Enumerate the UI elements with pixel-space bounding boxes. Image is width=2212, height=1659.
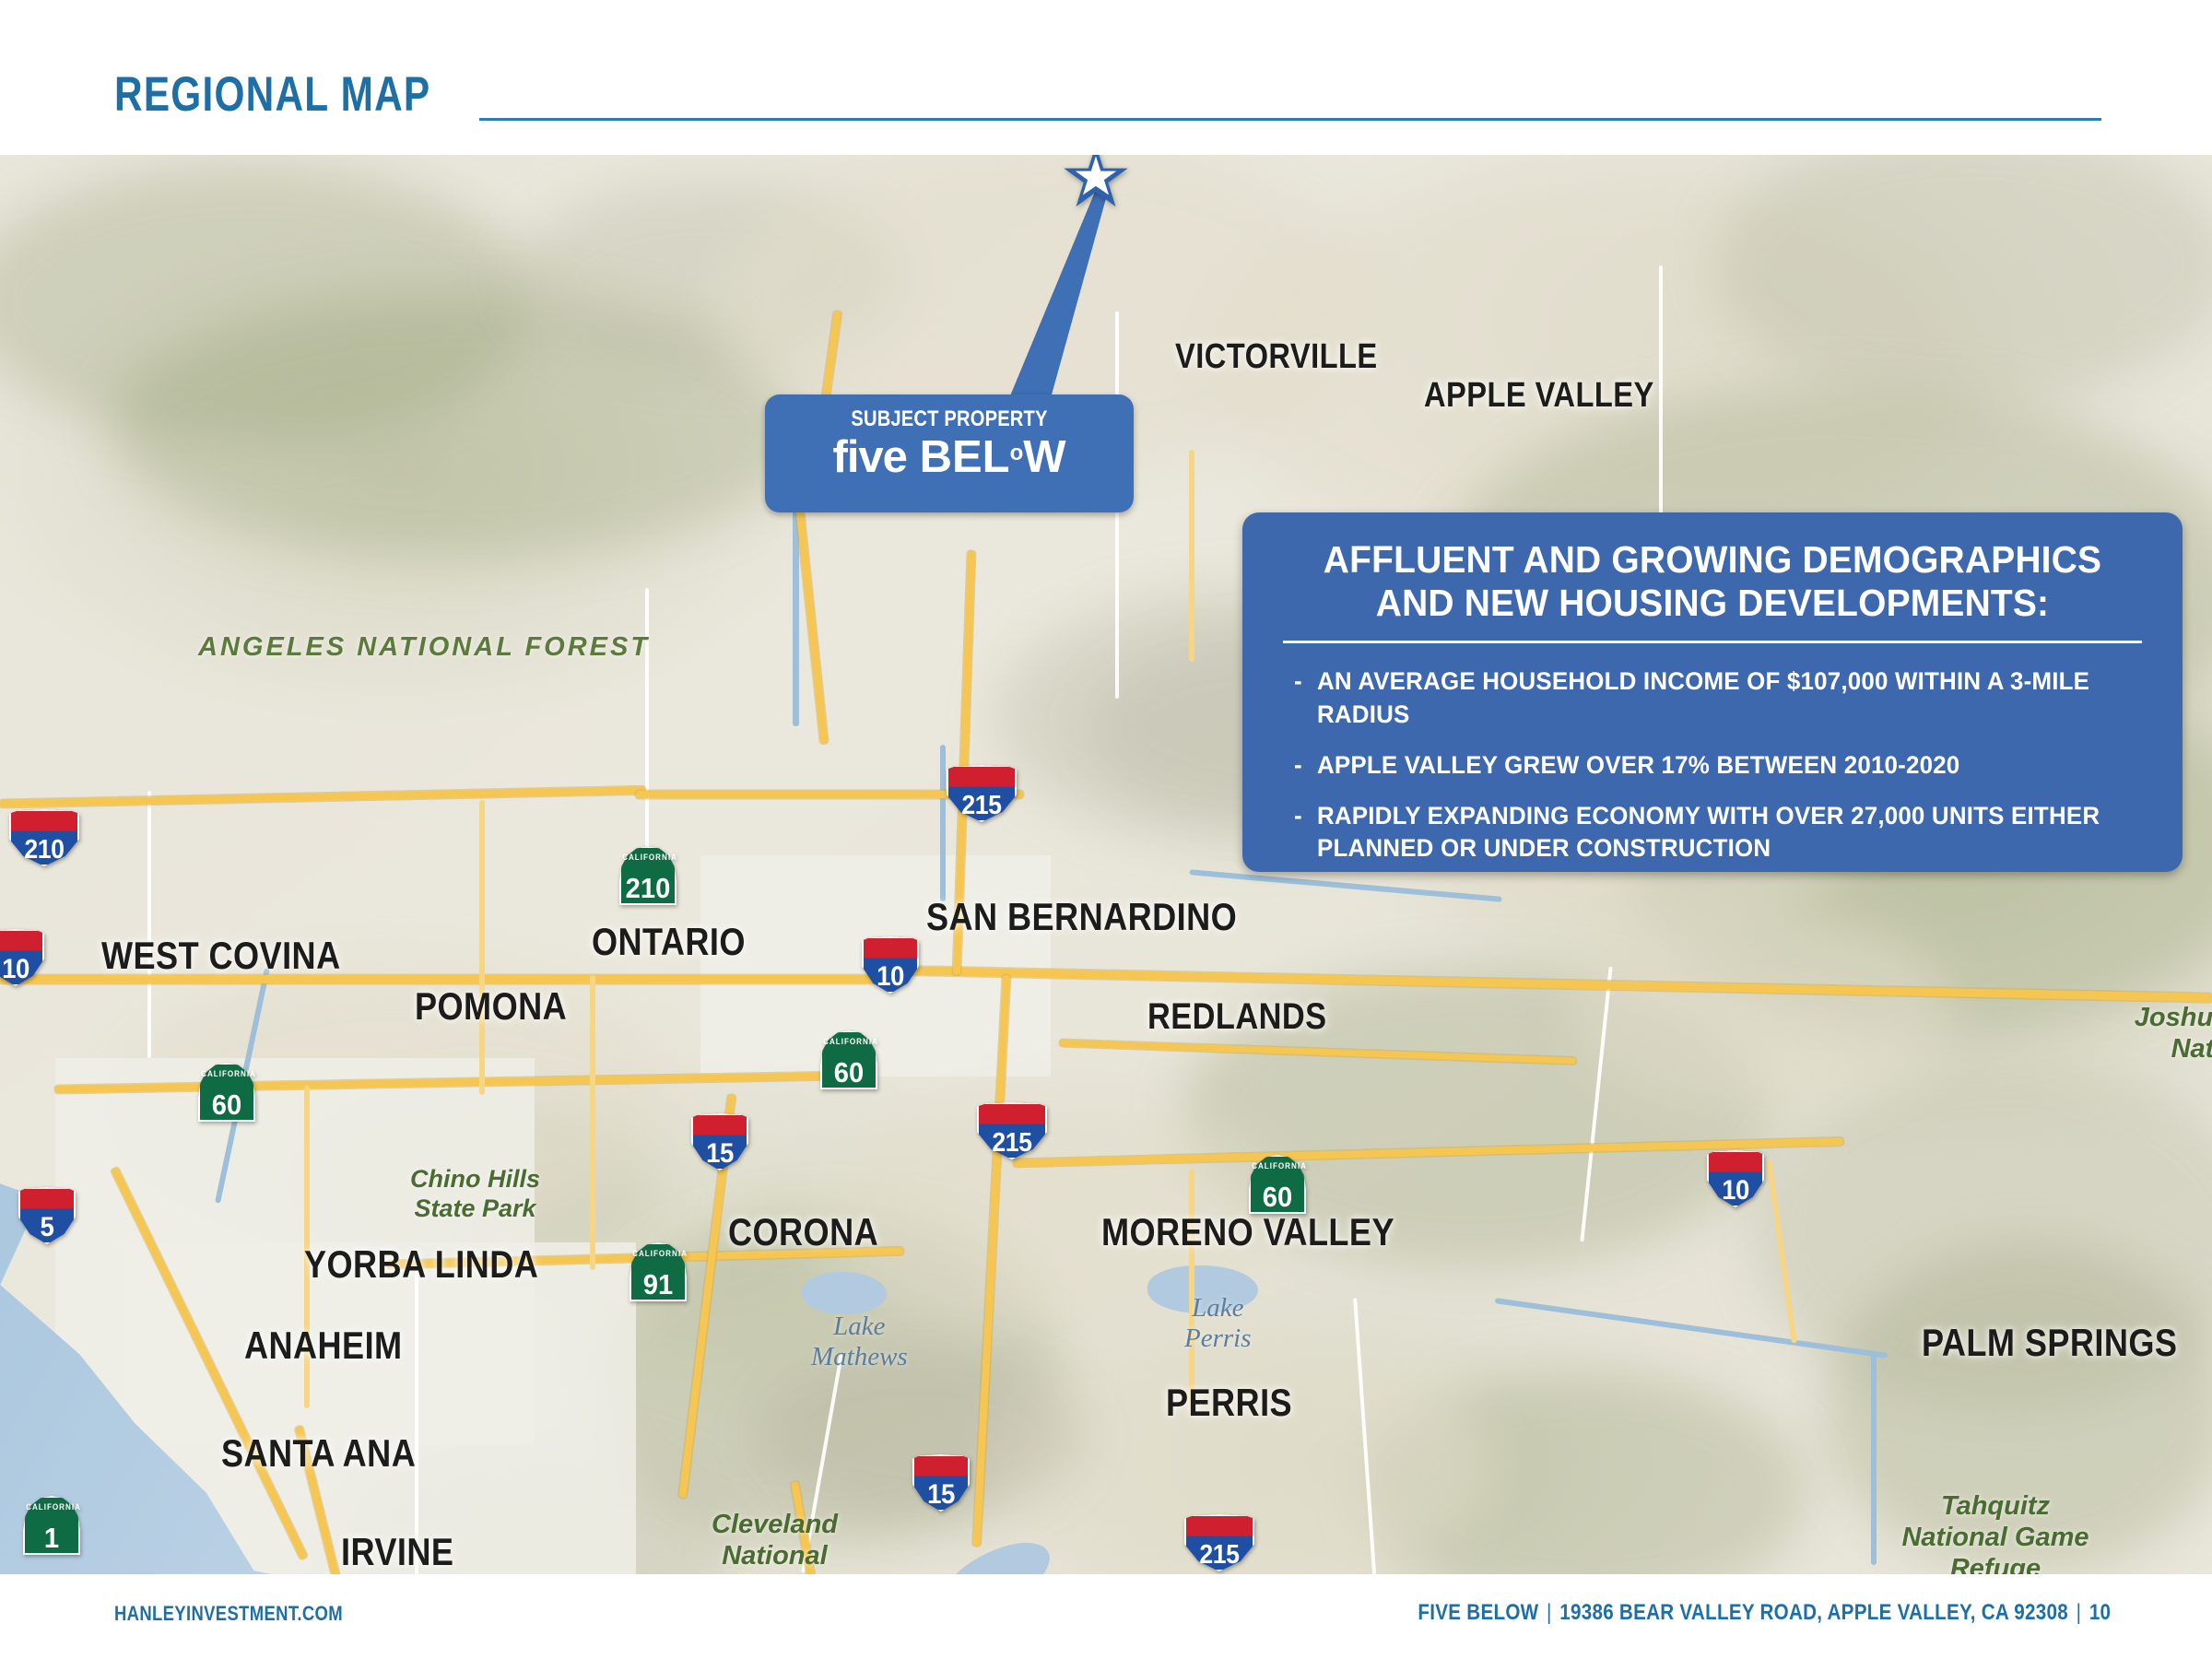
highway-shield-i215: 215 <box>947 765 1017 822</box>
city-label-redlands: REDLANDS <box>1147 996 1327 1038</box>
highway-shield-ca91: CALIFORNIA 91 <box>629 1242 687 1301</box>
regional-map-canvas: VICTORVILLE APPLE VALLEY HESPERIA SAN BE… <box>0 155 2212 1574</box>
bullet-dash: - <box>1294 665 1302 698</box>
page-title: REGIONAL MAP <box>114 66 430 123</box>
highway-shield-ca210: CALIFORNIA 210 <box>619 846 677 905</box>
subject-property-callout[interactable]: SUBJECT PROPERTY five BELoW <box>765 155 1244 542</box>
panel-title: AFFLUENT AND GROWING DEMOGRAPHICS AND NE… <box>1266 512 2159 624</box>
water-label-lake-mathews: Lake Mathews <box>811 1312 908 1373</box>
lake-mathews-water <box>802 1272 887 1314</box>
park-label-joshua-tree-national-park: Joshua Tre National Park <box>2092 1003 2212 1097</box>
highway-shield-i10-west: 10 <box>0 929 44 986</box>
highway-i10-east <box>885 966 2212 1002</box>
city-label-corona: CORONA <box>728 1210 878 1254</box>
city-label-perris: PERRIS <box>1166 1381 1292 1425</box>
panel-bullet-item: - RAPIDLY EXPANDING ECONOMY WITH OVER 27… <box>1294 800 2112 865</box>
shield-state-label: CALIFORNIA <box>1252 1161 1303 1171</box>
highway-shield-ca60-west: CALIFORNIA 60 <box>198 1063 255 1122</box>
header-divider <box>479 118 2101 121</box>
surface-road <box>1766 1160 1797 1344</box>
panel-bullet-list: - AN AVERAGE HOUSEHOLD INCOME OF $107,00… <box>1242 643 2183 864</box>
logo-five-text: five <box>833 432 907 482</box>
water-label-lake-perris: Lake Perris <box>1184 1293 1252 1355</box>
surface-road <box>479 800 485 1095</box>
county-boundary <box>645 588 649 874</box>
city-label-yorba-linda: YORBA LINDA <box>304 1242 538 1287</box>
highway-surface-road <box>1060 1040 1576 1065</box>
county-boundary <box>1659 265 1663 542</box>
city-label-irvine: IRVINE <box>341 1530 453 1574</box>
city-label-moreno-valley: MORENO VALLEY <box>1101 1210 1394 1254</box>
demographics-callout-panel: AFFLUENT AND GROWING DEMOGRAPHICS AND NE… <box>1242 512 2183 872</box>
panel-bullet-item: - AN AVERAGE HOUSEHOLD INCOME OF $107,00… <box>1294 665 2112 730</box>
highway-i210 <box>0 786 645 807</box>
surface-road <box>590 975 595 1270</box>
star-marker-icon <box>1062 155 1130 212</box>
footer-page-number: 10 <box>2089 1600 2111 1625</box>
subject-property-box[interactable]: SUBJECT PROPERTY five BELoW <box>765 394 1134 512</box>
highway-shield-ca60-east: CALIFORNIA 60 <box>1249 1155 1306 1214</box>
city-label-apple-valley: APPLE VALLEY <box>1424 376 1654 416</box>
logo-below-text: BEL <box>920 432 1010 482</box>
city-label-pomona: POMONA <box>415 984 567 1029</box>
footer-separator-2: | <box>2068 1600 2089 1625</box>
bullet-dash: - <box>1294 800 1302 832</box>
city-label-palm-springs: PALM SPRINGS <box>1922 1321 2177 1365</box>
footer-separator: | <box>1538 1600 1559 1625</box>
county-boundary <box>415 1261 418 1574</box>
highway-shield-i210: 210 <box>9 809 79 866</box>
park-label-tahquitz-national-game-refuge: Tahquitz National Game Refuge <box>1889 1491 2101 1574</box>
city-label-west-covina: WEST COVINA <box>101 934 341 978</box>
shield-state-label: CALIFORNIA <box>622 853 674 862</box>
footer-address: 19386 BEAR VALLEY ROAD, APPLE VALLEY, CA… <box>1559 1600 2068 1625</box>
five-below-logo: five BELoW <box>765 435 1134 480</box>
highway-shield-i10-central: 10 <box>862 936 919 994</box>
highway-shield-ca1: CALIFORNIA 1 <box>23 1496 80 1555</box>
park-label-angeles-national-forest: ANGELES NATIONAL FOREST <box>198 632 650 664</box>
santa-ana-river <box>940 745 946 901</box>
highway-shield-i10-east: 10 <box>1707 1150 1764 1207</box>
county-boundary <box>147 791 151 1058</box>
highway-shield-i215-riverside: 215 <box>977 1102 1047 1159</box>
subject-property-label: SUBJECT PROPERTY <box>794 406 1104 432</box>
city-label-ontario: ONTARIO <box>592 920 746 964</box>
panel-bullet-item: - APPLE VALLEY GREW OVER 17% BETWEEN 201… <box>1294 749 2112 782</box>
city-label-santa-ana: SANTA ANA <box>221 1431 416 1476</box>
regional-map-page: REGIONAL MAP <box>0 0 2212 1659</box>
shield-state-label: CALIFORNIA <box>823 1037 875 1046</box>
logo-degree-mark: o <box>1010 441 1024 465</box>
city-label-anaheim: ANAHEIM <box>244 1324 403 1368</box>
highway-shield-i215-south: 215 <box>1184 1514 1254 1571</box>
logo-below-suffix: W <box>1023 432 1065 482</box>
footer-tenant: FIVE BELOW <box>1418 1600 1538 1625</box>
park-label-cleveland-national-forest: Cleveland National Forest <box>712 1510 838 1574</box>
county-boundary <box>1580 967 1612 1242</box>
lake-elsinore-water <box>935 1527 1061 1574</box>
highway-shield-i15-corona: 15 <box>691 1113 748 1171</box>
page-footer: HANLEYINVESTMENT.COM FIVE BELOW|19386 BE… <box>0 1574 2212 1659</box>
surface-road <box>1189 1169 1194 1408</box>
shield-state-label: CALIFORNIA <box>632 1249 684 1258</box>
highway-shield-i5-north: 5 <box>18 1187 76 1244</box>
highway-shield-ca60-central: CALIFORNIA 60 <box>820 1030 877 1089</box>
bullet-dash: - <box>1294 749 1302 782</box>
santa-ana-river <box>1871 1353 1877 1565</box>
city-label-san-bernardino: SAN BERNARDINO <box>926 895 1237 939</box>
santa-ana-river <box>1495 1298 1888 1359</box>
park-label-chino-hills-state-park: Chino Hills State Park <box>410 1165 540 1223</box>
footer-website[interactable]: HANLEYINVESTMENT.COM <box>114 1602 343 1626</box>
shield-state-label: CALIFORNIA <box>26 1502 77 1512</box>
shield-state-label: CALIFORNIA <box>201 1069 253 1078</box>
county-boundary <box>1353 1298 1379 1574</box>
highway-shield-i15-south: 15 <box>912 1454 970 1512</box>
page-header: REGIONAL MAP <box>0 0 2212 155</box>
footer-property-info: FIVE BELOW|19386 BEAR VALLEY ROAD, APPLE… <box>1418 1600 2111 1626</box>
